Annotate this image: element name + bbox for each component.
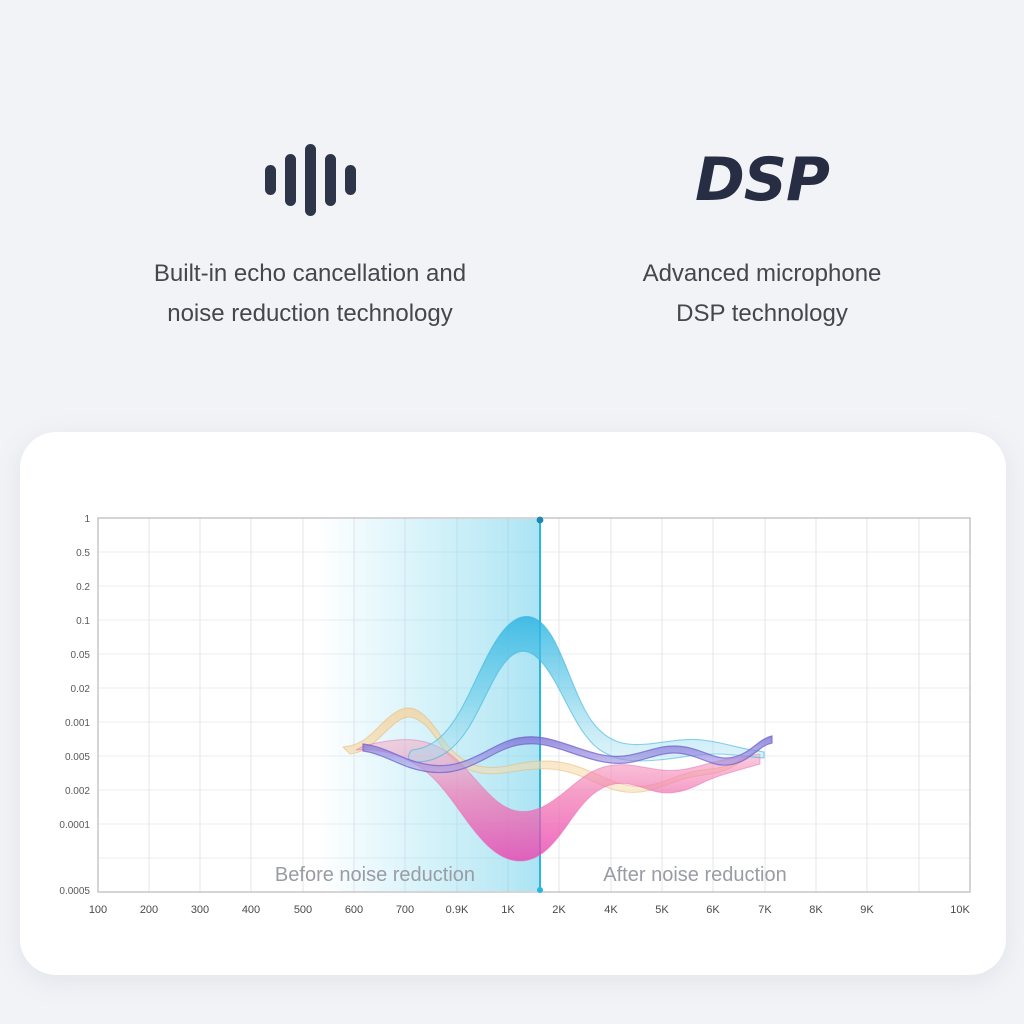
x-tick: 1K: [501, 904, 515, 916]
x-tick: 9K: [860, 904, 874, 916]
feature-echo-cancellation: Built-in echo cancellation and noise red…: [60, 140, 560, 333]
frequency-response-chart: 1 0.5 0.2 0.1 0.05 0.02 0.001 0.005 0.00…: [20, 432, 1006, 975]
y-tick: 0.5: [76, 548, 90, 559]
annotation-after-noise-reduction: After noise reduction: [603, 864, 786, 886]
x-tick: 6K: [706, 904, 720, 916]
waveform-bar: [325, 154, 336, 206]
x-tick: 0.9K: [446, 904, 469, 916]
x-tick: 100: [89, 904, 107, 916]
feature-caption-line2: noise reduction technology: [154, 294, 466, 334]
feature-dsp-technology: DSP Advanced microphone DSP technology: [560, 140, 964, 333]
x-tick: 2K: [552, 904, 566, 916]
feature-row: Built-in echo cancellation and noise red…: [0, 140, 1024, 333]
icon-slot: [265, 140, 356, 220]
y-tick: 0.1: [76, 616, 90, 627]
feature-caption: Advanced microphone DSP technology: [643, 254, 882, 333]
waveform-bar: [345, 165, 356, 195]
x-axis-ticks: 100 200 300 400 500 600 700 0.9K 1K 2K 4…: [89, 904, 971, 916]
waveform-bar: [265, 165, 276, 195]
x-tick: 8K: [809, 904, 823, 916]
x-tick: 7K: [758, 904, 772, 916]
x-tick: 300: [191, 904, 209, 916]
y-tick: 0.0001: [59, 820, 90, 831]
y-axis-ticks: 1 0.5 0.2 0.1 0.05 0.02 0.001 0.005 0.00…: [59, 514, 90, 897]
icon-slot: DSP: [695, 140, 829, 220]
feature-caption-line1: Built-in echo cancellation and: [154, 254, 466, 294]
annotation-before-noise-reduction: Before noise reduction: [275, 864, 475, 886]
y-tick: 0.002: [65, 786, 90, 797]
y-tick: 0.2: [76, 582, 90, 593]
waveform-bar: [285, 154, 296, 206]
x-tick: 4K: [604, 904, 618, 916]
chart-card: 1 0.5 0.2 0.1 0.05 0.02 0.001 0.005 0.00…: [20, 432, 1006, 975]
y-tick: 0.005: [65, 752, 90, 763]
audio-waveform-icon: [265, 144, 356, 216]
feature-caption-line2: DSP technology: [643, 294, 882, 334]
x-tick: 700: [396, 904, 414, 916]
x-tick: 400: [242, 904, 260, 916]
x-tick: 5K: [655, 904, 669, 916]
feature-caption: Built-in echo cancellation and noise red…: [154, 254, 466, 333]
x-tick: 10K: [950, 904, 970, 916]
waveform-bar: [305, 144, 316, 216]
x-tick: 500: [294, 904, 312, 916]
feature-caption-line1: Advanced microphone: [643, 254, 882, 294]
y-tick: 1: [84, 514, 90, 525]
y-tick: 0.001: [65, 718, 90, 729]
y-tick: 0.0005: [59, 886, 90, 897]
y-tick: 0.05: [71, 650, 91, 661]
dsp-wordmark-icon: DSP: [695, 150, 829, 210]
x-tick: 600: [345, 904, 363, 916]
y-tick: 0.02: [71, 684, 91, 695]
chart-svg: 1 0.5 0.2 0.1 0.05 0.02 0.001 0.005 0.00…: [20, 432, 1006, 975]
x-tick: 200: [140, 904, 158, 916]
